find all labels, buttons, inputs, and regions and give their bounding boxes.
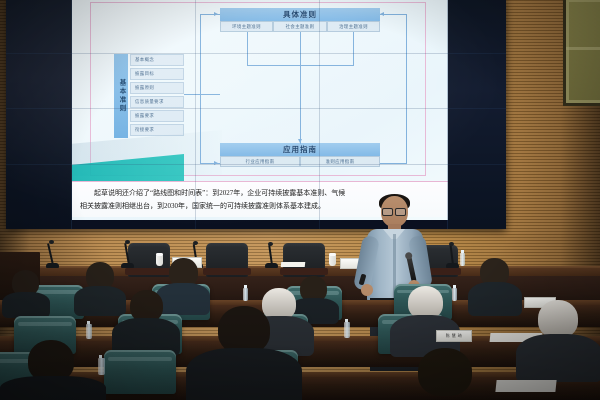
connector-line [406, 14, 407, 164]
person-body [0, 376, 106, 400]
diagram-side-label: 基本准则 [114, 54, 128, 138]
connector-arrow [380, 12, 384, 16]
microphone-head-icon [449, 242, 454, 246]
connector-line [380, 163, 406, 164]
water-bottle [86, 324, 92, 339]
microphone-base [446, 263, 459, 268]
audience-seat[interactable] [104, 350, 176, 394]
audience-person [396, 286, 454, 354]
diagram-bottom-sub-0: 行业应用指南 [220, 156, 300, 167]
document-paper [281, 262, 306, 267]
audience-person [470, 258, 518, 316]
microphone-head-icon [49, 240, 54, 244]
connector-line [247, 32, 248, 66]
diagram-side-item-5: 衔接要求 [130, 124, 184, 136]
water-bottle [460, 253, 465, 266]
paper-cup [329, 255, 336, 266]
dais-chair[interactable] [206, 243, 248, 277]
person-body [186, 348, 302, 400]
diagram-top-sub-0: 环境主题准则 [220, 21, 273, 32]
audience-person [196, 306, 292, 400]
led-video-wall[interactable]: 具体准则 环境主题准则 社会主题准则 治理主题准则 基本准则 基本概念 披露目标… [6, 0, 506, 229]
connector-line [184, 94, 220, 95]
person-body [2, 292, 50, 318]
person-head [218, 306, 270, 354]
diagram-side-item-2: 披露原则 [130, 82, 184, 94]
diagram-bottom-header: 应用指南 [220, 143, 380, 156]
audience-person [6, 270, 46, 314]
diagram-bottom-sub-1: 准则应用指南 [300, 156, 380, 167]
microphone-base [121, 263, 134, 268]
conference-room-photo: 具体准则 环境主题准则 社会主题准则 治理主题准则 基本准则 基本概念 披露目标… [0, 0, 600, 400]
microphone-base [46, 263, 59, 268]
microphone-head-icon [193, 241, 198, 245]
diagram-side-item-3: 信息质量要求 [130, 96, 184, 108]
connector-line [200, 14, 201, 164]
audience-person [524, 300, 594, 380]
microphone-head-icon [268, 242, 273, 246]
nameplate: 陈 慧 琦 [436, 330, 472, 342]
person-head [538, 300, 578, 338]
diagram-side-item-0: 基本概念 [130, 54, 184, 66]
connector-arrow [214, 12, 218, 16]
connector-line [247, 65, 354, 66]
audience-person [78, 262, 122, 314]
olive-wall-panel [563, 0, 600, 106]
audience-person [10, 340, 96, 400]
audience-person [118, 290, 174, 354]
diagram-top-sub-2: 治理主题准则 [327, 21, 380, 32]
connector-line [353, 32, 354, 66]
person-body [468, 282, 522, 316]
audience-person [398, 348, 494, 400]
diagram-side-item-4: 披露要求 [130, 110, 184, 122]
connector-line [300, 32, 301, 144]
microphone-head-icon [125, 240, 130, 244]
diagram-side-item-1: 披露目标 [130, 68, 184, 80]
water-bottle [98, 358, 105, 375]
led-panel-dark-right [448, 0, 506, 229]
person-body [516, 334, 600, 382]
led-panel-dark-left [6, 0, 72, 229]
presenter-left-hand [361, 284, 373, 296]
diagram-top-sub-1: 社会主题准则 [273, 21, 327, 32]
eyeglasses-icon [382, 208, 406, 214]
water-bottle [344, 322, 350, 338]
person-head [418, 348, 472, 396]
connector-arrow [298, 139, 302, 143]
microphone-base [265, 263, 278, 268]
document-paper [495, 380, 556, 392]
dais-chair[interactable] [283, 243, 325, 277]
diagram-top-header: 具体准则 [220, 8, 380, 21]
water-bottle [243, 288, 248, 301]
panel-mullion [566, 47, 600, 50]
connector-arrow [214, 161, 218, 165]
